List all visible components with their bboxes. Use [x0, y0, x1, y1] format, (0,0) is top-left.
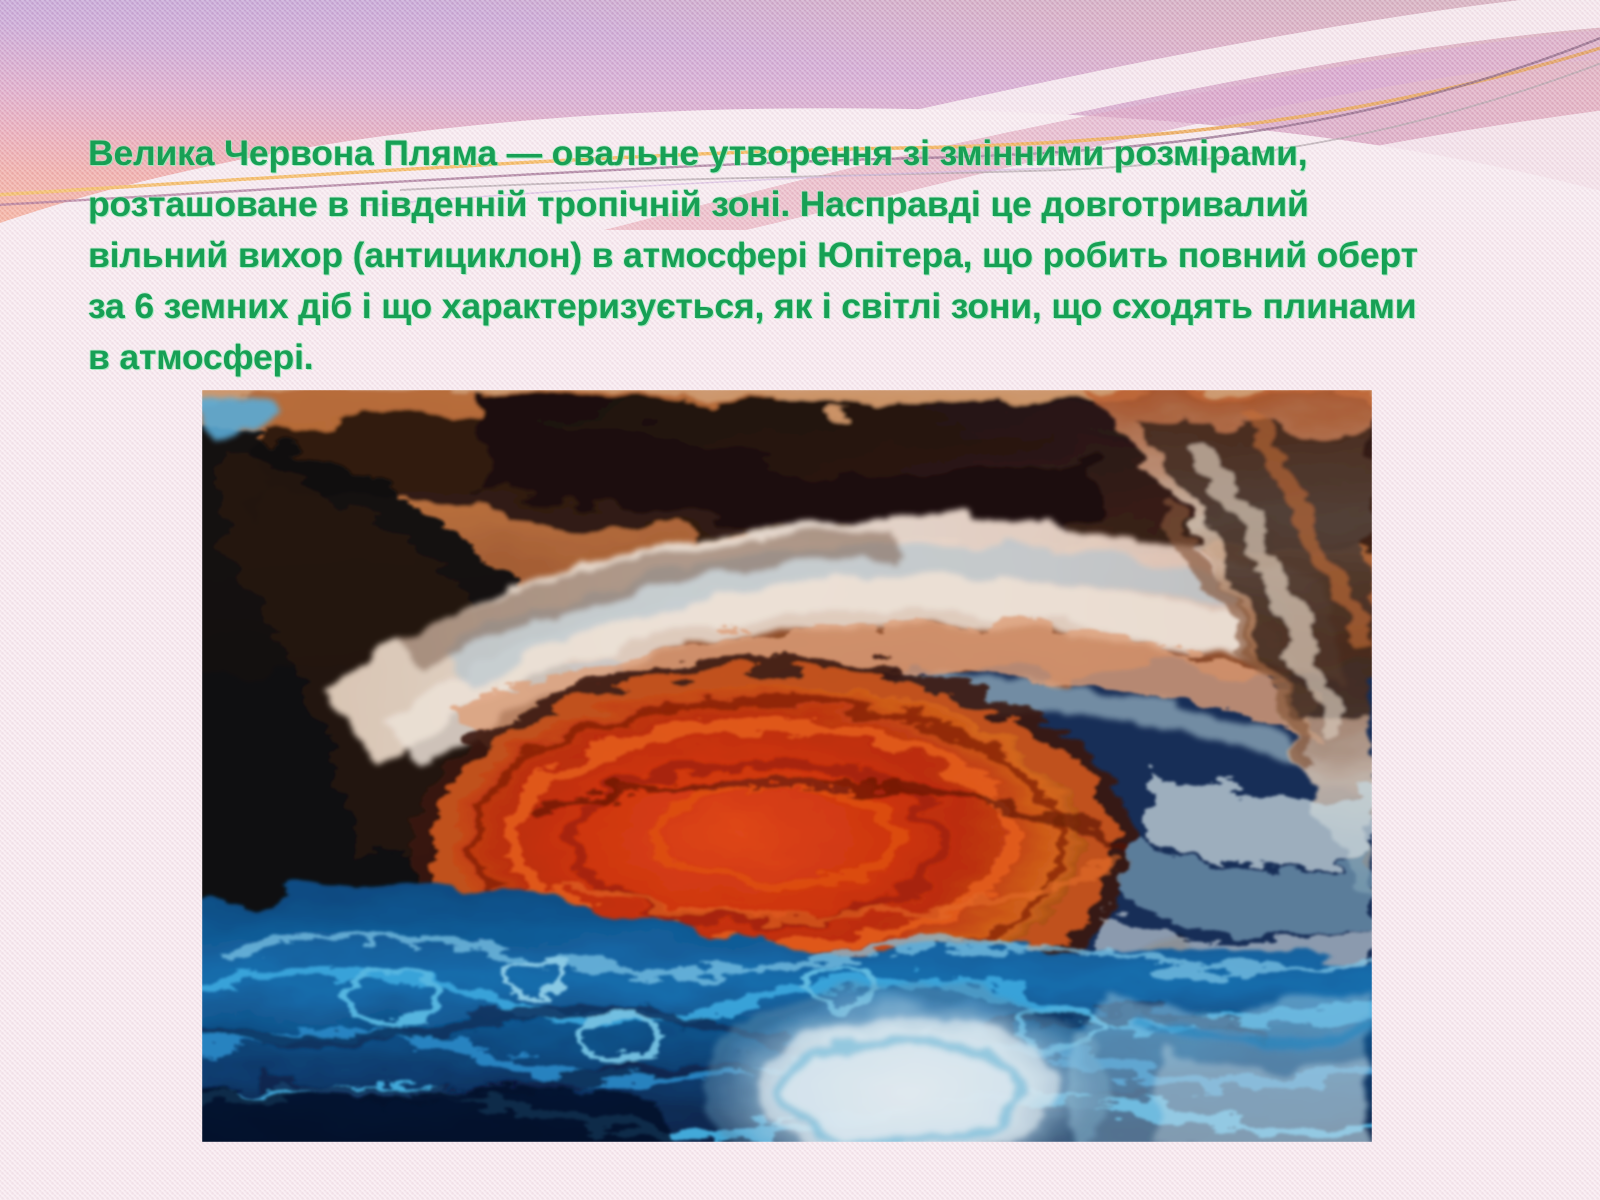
body-paragraph: Велика Червона Пляма — овальне утворення…: [88, 128, 1418, 383]
jupiter-great-red-spot-photo: [202, 390, 1372, 1142]
jupiter-image-frame[interactable]: [202, 390, 1372, 1142]
slide: Велика Червона Пляма — овальне утворення…: [0, 0, 1600, 1200]
jupiter-illustration: [202, 390, 1372, 1142]
